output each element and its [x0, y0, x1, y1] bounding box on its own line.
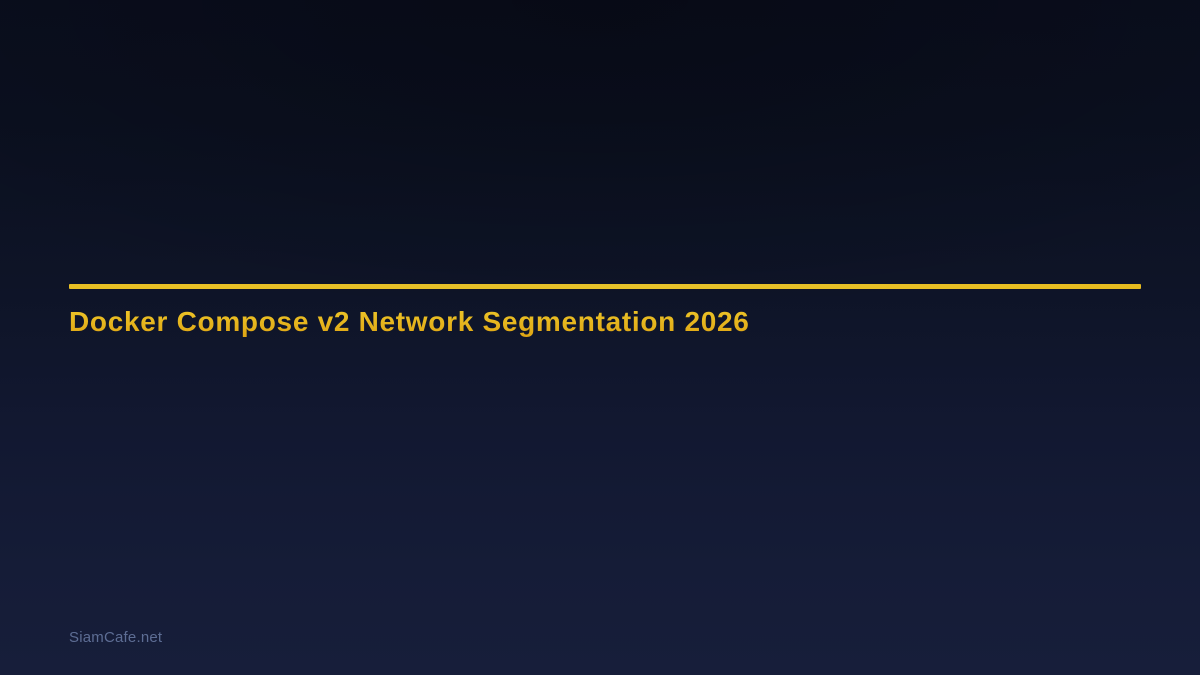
page-title: Docker Compose v2 Network Segmentation 2…	[69, 289, 1141, 337]
title-block: Docker Compose v2 Network Segmentation 2…	[69, 284, 1141, 337]
footer-watermark: SiamCafe.net	[69, 629, 162, 646]
slide-canvas: Docker Compose v2 Network Segmentation 2…	[0, 0, 1200, 675]
